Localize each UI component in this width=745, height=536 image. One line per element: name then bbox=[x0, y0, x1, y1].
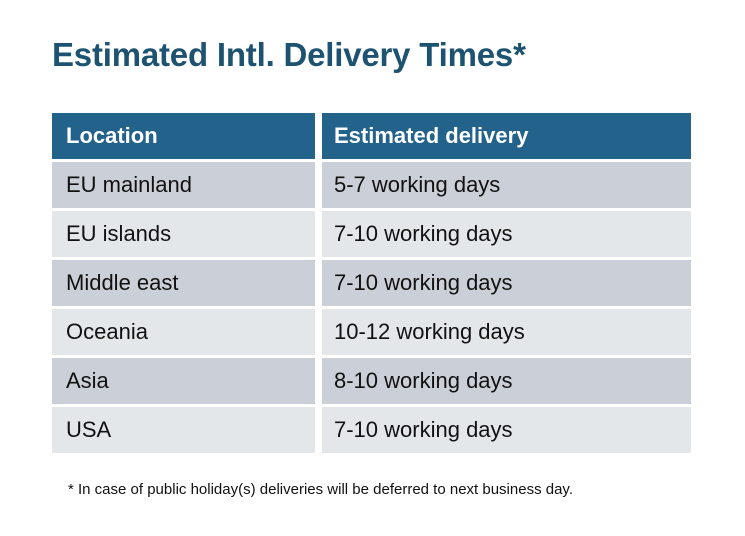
column-header-estimated-delivery: Estimated delivery bbox=[322, 113, 691, 159]
cell-location: Middle east bbox=[52, 260, 315, 306]
cell-location: Asia bbox=[52, 358, 315, 404]
page-title: Estimated Intl. Delivery Times* bbox=[52, 36, 526, 74]
table-row: EU mainland 5-7 working days bbox=[52, 162, 691, 208]
table-row: USA 7-10 working days bbox=[52, 407, 691, 453]
footnote: * In case of public holiday(s) deliverie… bbox=[68, 481, 573, 498]
cell-estimated-delivery: 10-12 working days bbox=[322, 309, 691, 355]
cell-estimated-delivery: 5-7 working days bbox=[322, 162, 691, 208]
table-row: Oceania 10-12 working days bbox=[52, 309, 691, 355]
table-row: EU islands 7-10 working days bbox=[52, 211, 691, 257]
cell-location: USA bbox=[52, 407, 315, 453]
table-header-row: Location Estimated delivery bbox=[52, 113, 691, 159]
delivery-times-page: Estimated Intl. Delivery Times* Location… bbox=[0, 0, 745, 536]
table-row: Middle east 7-10 working days bbox=[52, 260, 691, 306]
table-row: Asia 8-10 working days bbox=[52, 358, 691, 404]
column-header-location: Location bbox=[52, 113, 315, 159]
cell-location: Oceania bbox=[52, 309, 315, 355]
cell-estimated-delivery: 7-10 working days bbox=[322, 407, 691, 453]
cell-location: EU mainland bbox=[52, 162, 315, 208]
cell-estimated-delivery: 7-10 working days bbox=[322, 260, 691, 306]
cell-estimated-delivery: 8-10 working days bbox=[322, 358, 691, 404]
delivery-times-table: Location Estimated delivery EU mainland … bbox=[52, 113, 691, 456]
cell-location: EU islands bbox=[52, 211, 315, 257]
cell-estimated-delivery: 7-10 working days bbox=[322, 211, 691, 257]
